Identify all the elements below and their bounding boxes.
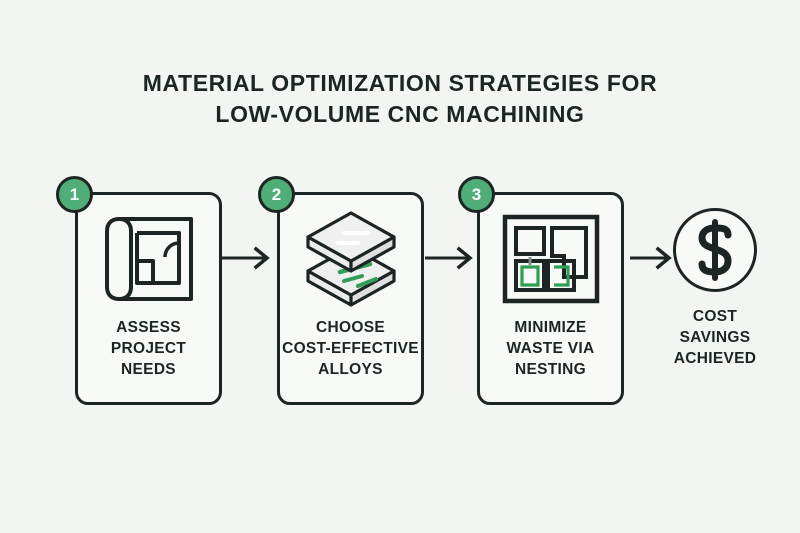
step-number-badge-1: 1 [56,176,93,213]
page-title: Material Optimization Strategies for Low… [0,68,800,130]
step-card-2[interactable]: 2 Choose [277,192,424,405]
step-label-2-line-3: Alloys [280,359,421,380]
step-label-1-line-3: Needs [78,359,219,380]
step-label-2-line-2: Cost-Effective [280,338,421,359]
step-label-1-line-2: Project [78,338,219,359]
step-label-1-line-1: Assess [78,317,219,338]
step-label-1: Assess Project Needs [78,317,219,380]
arrow-step1-to-step2 [222,246,277,270]
step-label-3: Minimize Waste via Nesting [480,317,621,380]
title-line-1: Material Optimization Strategies for [0,68,800,99]
arrow-step2-to-step3 [425,246,480,270]
title-line-2: Low-Volume CNC Machining [0,99,800,130]
blueprint-icon [78,205,219,313]
outcome-label-line-3: Achieved [660,348,770,369]
step-label-3-line-1: Minimize [480,317,621,338]
step-label-3-line-3: Nesting [480,359,621,380]
outcome-block: Cost Savings Achieved [660,208,770,369]
step-number-badge-3: 3 [458,176,495,213]
outcome-label: Cost Savings Achieved [660,306,770,369]
step-card-1[interactable]: 1 Assess Project Needs [75,192,222,405]
outcome-label-line-2: Savings [660,327,770,348]
infographic-canvas: Material Optimization Strategies for Low… [0,0,800,533]
outcome-label-line-1: Cost [660,306,770,327]
dollar-sign-icon [673,208,757,292]
step-number-badge-2: 2 [258,176,295,213]
step-label-2-line-1: Choose [280,317,421,338]
step-label-3-line-2: Waste via [480,338,621,359]
metal-plates-icon [280,205,421,313]
nesting-layout-icon [480,205,621,313]
step-card-3[interactable]: 3 Minimize Waste via [477,192,624,405]
step-label-2: Choose Cost-Effective Alloys [280,317,421,380]
